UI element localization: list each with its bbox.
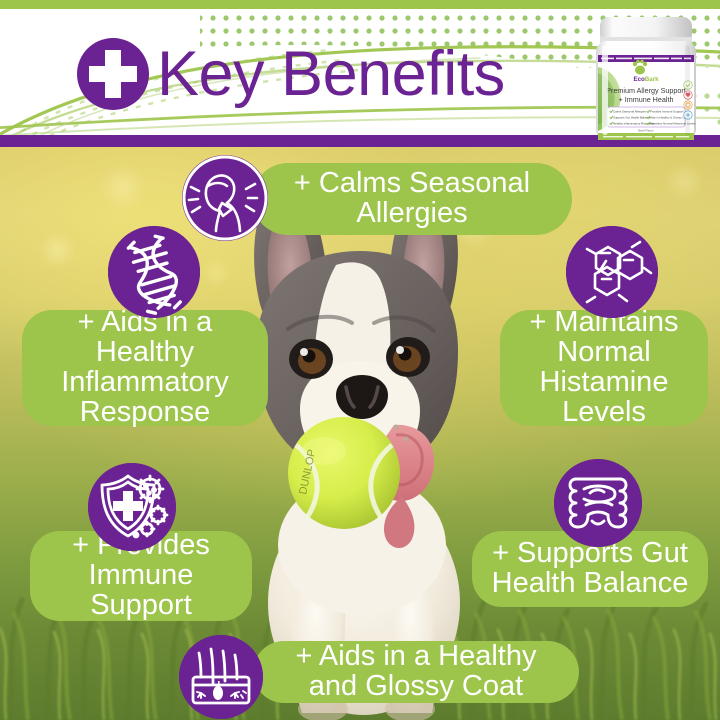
svg-text:Calms Seasonal Allergies: Calms Seasonal Allergies <box>613 110 646 114</box>
benefit-label: + Aids in a Healthy Inflammatory Respons… <box>61 308 229 427</box>
header-top-accent-bar <box>0 0 720 9</box>
benefit-pill: + Maintains Normal Histamine Levels <box>500 310 708 426</box>
infographic-canvas: DUNLOP <box>0 0 720 720</box>
svg-text:Premium Allergy Support: Premium Allergy Support <box>606 86 686 95</box>
benefit-maintains-normal-histamine-levels[interactable]: + Maintains Normal Histamine Levels <box>500 310 708 426</box>
benefit-supports-gut-health-balance[interactable]: + Supports Gut Health Balance <box>472 531 708 607</box>
benefit-pill: + Aids in a Healthy and Glossy Coat <box>253 641 579 703</box>
svg-text:+ Immune Health: + Immune Health <box>619 95 674 104</box>
shield-germ-icon <box>88 463 176 551</box>
intestines-icon <box>554 459 642 547</box>
header-banner: Key Benefits <box>0 0 720 147</box>
benefit-label: + Aids in a Healthy and Glossy Coat <box>295 642 536 702</box>
benefit-healthy-inflammatory-response[interactable]: + Aids in a Healthy Inflammatory Respons… <box>22 310 268 426</box>
benefit-pill: + Calms Seasonal Allergies <box>252 163 572 235</box>
benefit-label: + Supports Gut Health Balance <box>492 539 689 599</box>
medical-cross-icon <box>77 38 149 110</box>
benefit-pill: + Aids in a Healthy Inflammatory Respons… <box>22 310 268 426</box>
benefit-calms-seasonal-allergies[interactable]: + Calms Seasonal Allergies <box>252 163 572 235</box>
svg-text:Beef Flavor: Beef Flavor <box>638 129 653 133</box>
product-bottle: EcoBark Premium Allergy Support + Immune… <box>584 11 708 144</box>
page-title: Key Benefits <box>157 38 505 110</box>
benefit-healthy-glossy-coat[interactable]: + Aids in a Healthy and Glossy Coat <box>253 641 579 703</box>
svg-text:Aids in Healthy & Glossy Coat: Aids in Healthy & Glossy Coat <box>650 116 689 120</box>
benefit-label: + Maintains Normal Histamine Levels <box>529 308 678 427</box>
molecule-icon <box>566 226 658 318</box>
hair-follicle-icon <box>179 635 263 719</box>
svg-text:Supports Gut Health Balance: Supports Gut Health Balance <box>613 116 651 120</box>
benefit-label: + Calms Seasonal Allergies <box>294 169 530 229</box>
benefit-provides-immune-support[interactable]: + Provides Immune Support <box>30 531 252 621</box>
svg-text:Provides Immune Support: Provides Immune Support <box>650 110 684 114</box>
svg-text:EcoBark: EcoBark <box>633 76 659 83</box>
dna-helix-icon <box>108 226 200 318</box>
